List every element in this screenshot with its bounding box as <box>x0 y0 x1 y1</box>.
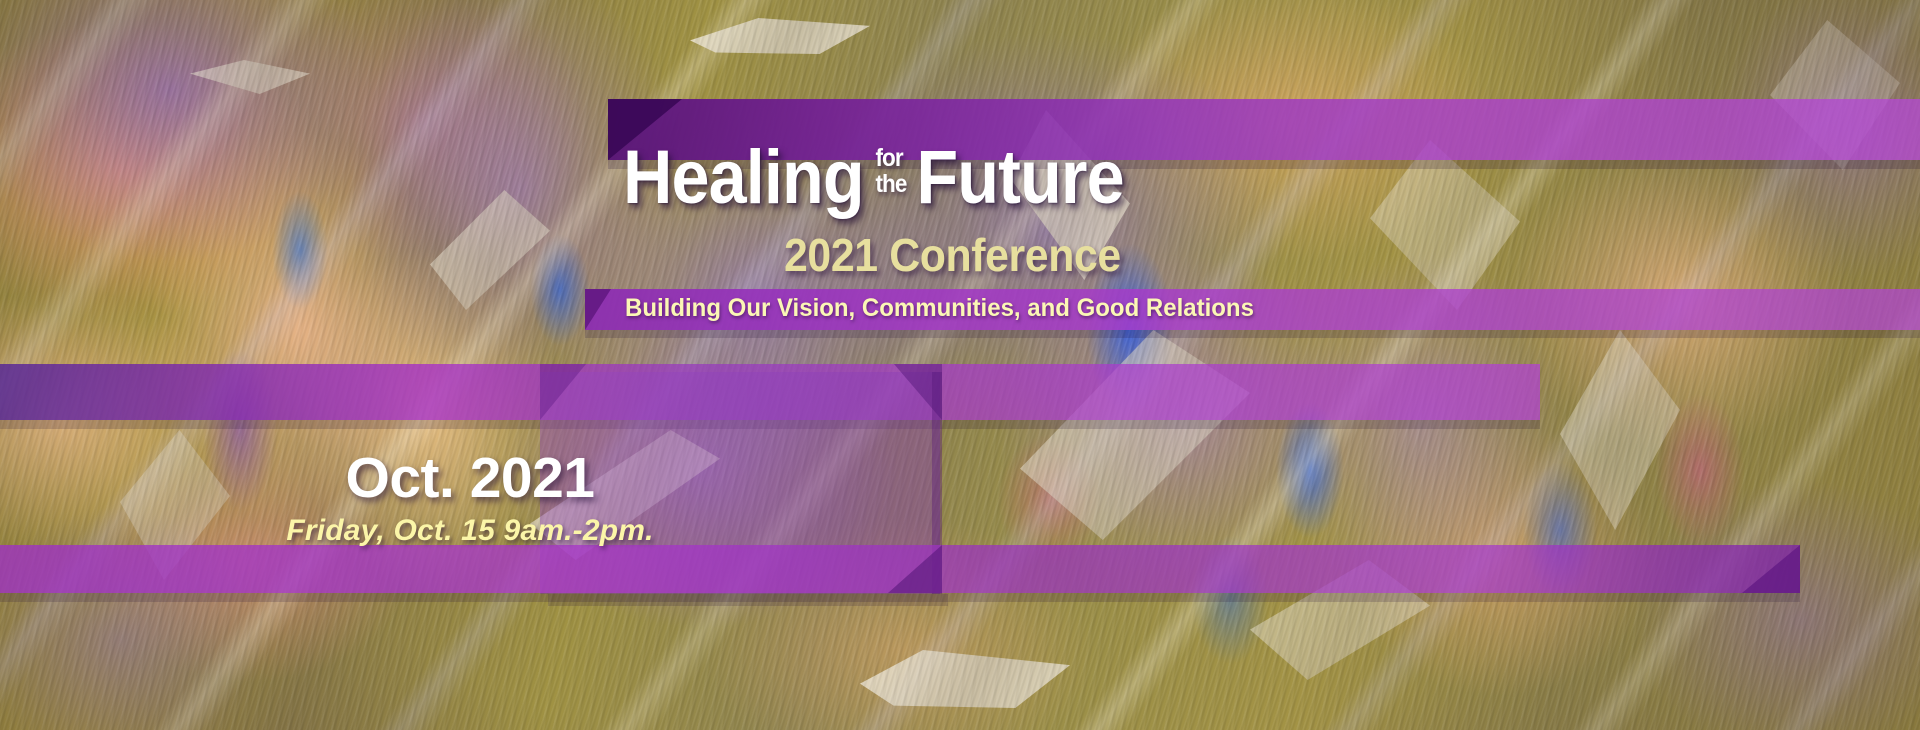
ribbon-tagline-shadow <box>585 330 1920 338</box>
conference-banner: Healing for the Future 2021 Conference B… <box>0 0 1920 730</box>
headline-stacked-words: for the <box>875 146 906 197</box>
headline-word-for: for <box>875 146 906 172</box>
conference-headline: Healing for the Future <box>623 140 1613 216</box>
headline-word-healing: Healing <box>623 140 864 216</box>
conference-tagline: Building Our Vision, Communities, and Go… <box>625 294 1254 323</box>
event-date-details: Friday, Oct. 15 9am.-2pm. <box>0 514 940 548</box>
conference-subtitle: 2021 Conference <box>784 228 1121 282</box>
ribbon-bottom-shadow <box>0 593 1800 602</box>
headline-word-the: the <box>875 172 906 198</box>
headline-block: Healing for the Future <box>623 140 1723 216</box>
event-date-main: Oct. 2021 <box>0 445 940 511</box>
headline-word-future: Future <box>916 140 1123 216</box>
